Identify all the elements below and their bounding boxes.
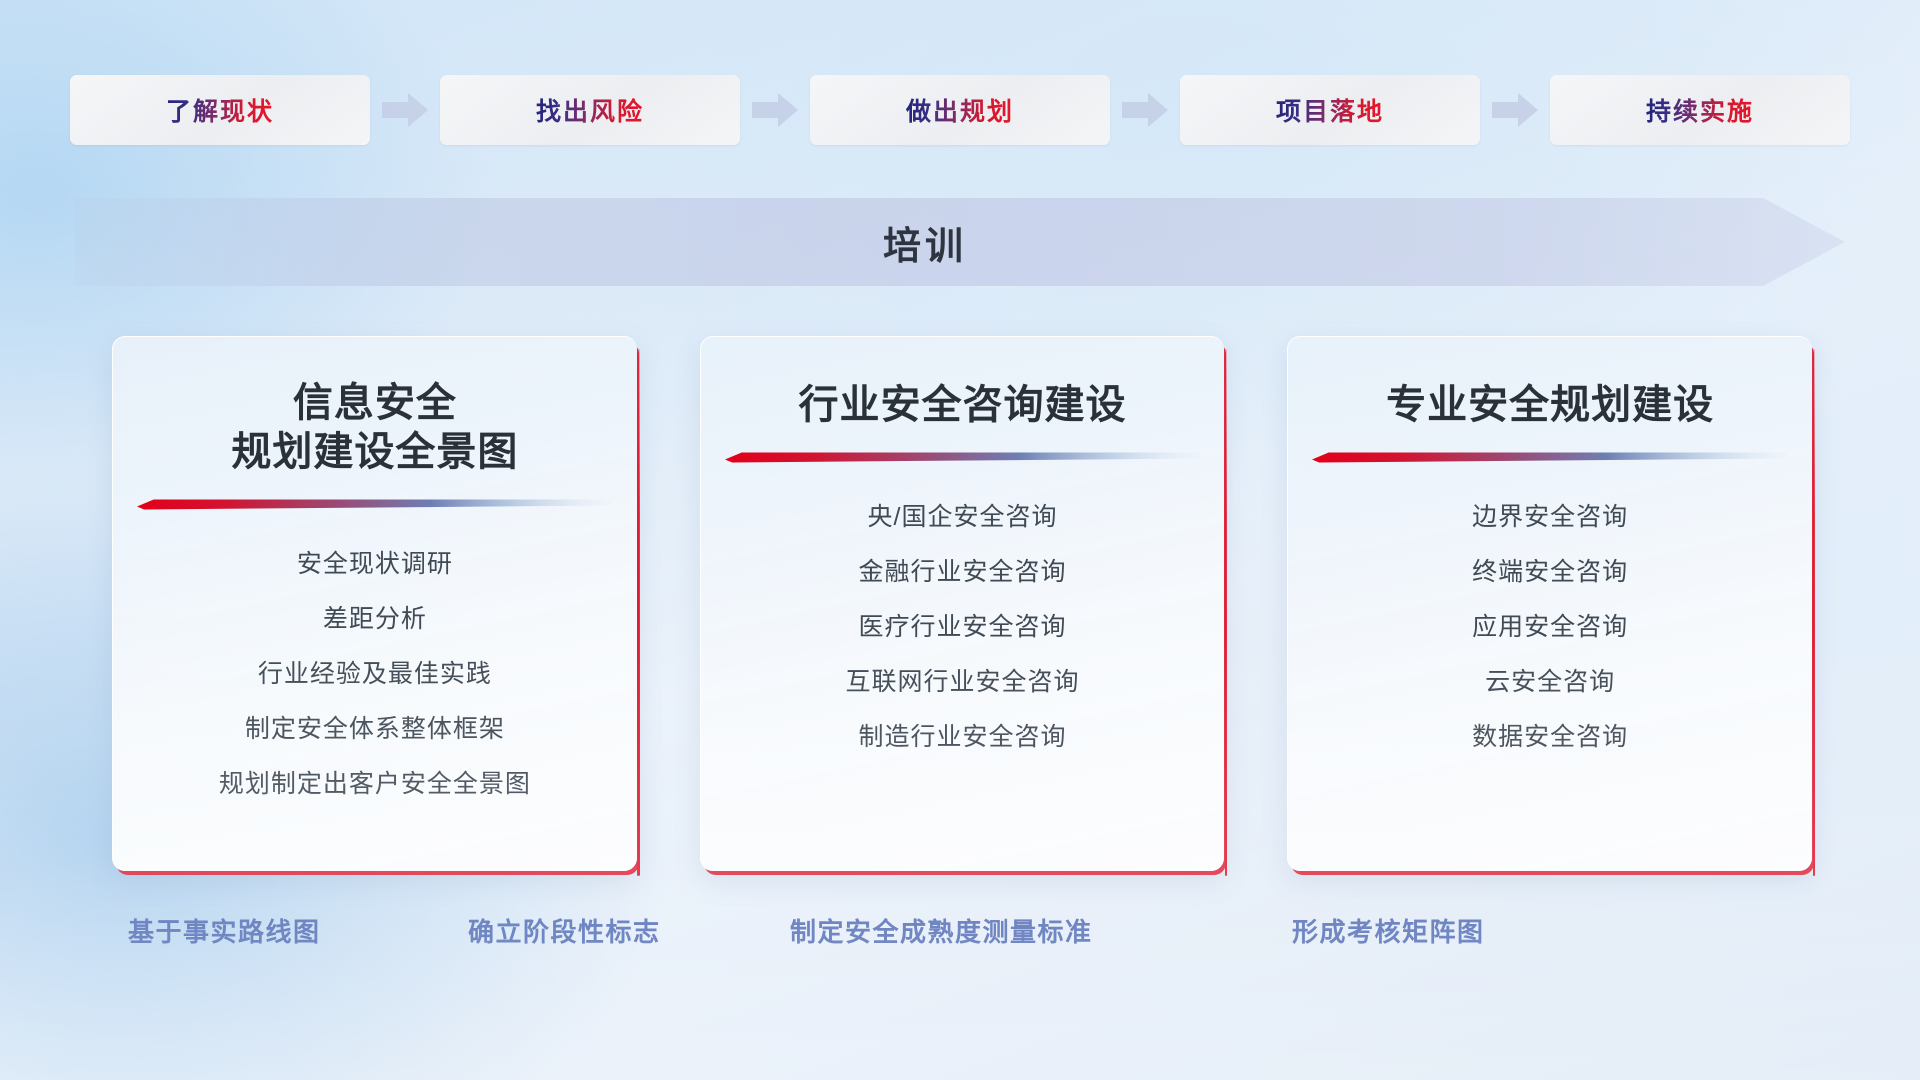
slide-canvas: 了解现状 找出风险 做出规划 项目落地 持续实施 [0, 0, 1920, 1080]
process-step-surface: 项目落地 [1180, 75, 1480, 145]
card-list-item: 行业经验及最佳实践 [258, 654, 492, 690]
footer-label-4: 形成考核矩阵图 [1292, 912, 1485, 949]
card-list-item: 医疗行业安全咨询 [859, 607, 1067, 643]
card-list-item: 制定安全体系整体框架 [245, 709, 505, 745]
card-title: 信息安全 规划建设全景图 [231, 379, 518, 477]
process-step-2[interactable]: 找出风险 [440, 75, 740, 145]
card-list-item: 央/国企安全咨询 [868, 497, 1058, 533]
process-step-surface: 持续实施 [1550, 75, 1850, 145]
card-item-list: 边界安全咨询终端安全咨询应用安全咨询云安全咨询数据安全咨询 [1472, 497, 1628, 753]
process-step-strip: 了解现状 找出风险 做出规划 项目落地 持续实施 [70, 75, 1850, 145]
card-list-item: 终端安全咨询 [1472, 552, 1628, 588]
process-step-5[interactable]: 持续实施 [1550, 75, 1850, 145]
process-step-label: 了解现状 [166, 92, 274, 128]
card-list-item: 制造行业安全咨询 [859, 717, 1067, 753]
card-list-item: 互联网行业安全咨询 [846, 662, 1080, 698]
card-list-item: 边界安全咨询 [1472, 497, 1628, 533]
gradient-accent-bar-icon [725, 450, 1201, 463]
footer-label-group: 基于事实路线图确立阶段性标志制定安全成熟度测量标准形成考核矩阵图 [0, 912, 1920, 962]
process-step-label: 找出风险 [536, 92, 644, 128]
info-card-1[interactable]: 信息安全 规划建设全景图 安全现状调研差距分析行业经验及最佳实践制定安全体系整体… [112, 336, 637, 871]
chevron-right-arrow-icon [1122, 93, 1168, 127]
chevron-right-arrow-icon [382, 93, 428, 127]
card-list-item: 云安全咨询 [1485, 662, 1615, 698]
process-step-surface: 了解现状 [70, 75, 370, 145]
process-step-label: 做出规划 [906, 92, 1014, 128]
process-step-label: 项目落地 [1276, 92, 1384, 128]
footer-label-2: 确立阶段性标志 [468, 912, 661, 949]
process-step-label: 持续实施 [1646, 92, 1754, 128]
process-step-4[interactable]: 项目落地 [1180, 75, 1480, 145]
card-list-item: 安全现状调研 [297, 544, 453, 580]
info-card-3[interactable]: 专业安全规划建设 边界安全咨询终端安全咨询应用安全咨询云安全咨询数据安全咨询 [1287, 336, 1812, 871]
card-divider [137, 497, 613, 510]
card-item-list: 央/国企安全咨询金融行业安全咨询医疗行业安全咨询互联网行业安全咨询制造行业安全咨… [846, 497, 1080, 753]
chevron-right-arrow-icon [1492, 93, 1538, 127]
card-title: 专业安全规划建设 [1386, 381, 1714, 430]
card-list-item: 规划制定出客户安全全景图 [219, 764, 531, 800]
training-banner: 培训 [75, 198, 1845, 286]
process-connector-arrow-3 [1110, 75, 1180, 145]
process-connector-arrow-2 [740, 75, 810, 145]
banner-title: 培训 [75, 198, 1775, 286]
process-step-surface: 找出风险 [440, 75, 740, 145]
card-list-item: 金融行业安全咨询 [859, 552, 1067, 588]
info-card-2[interactable]: 行业安全咨询建设 央/国企安全咨询金融行业安全咨询医疗行业安全咨询互联网行业安全… [700, 336, 1225, 871]
gradient-accent-bar-icon [1312, 450, 1788, 463]
process-connector-arrow-1 [370, 75, 440, 145]
process-step-3[interactable]: 做出规划 [810, 75, 1110, 145]
card-list-item: 数据安全咨询 [1472, 717, 1628, 753]
gradient-accent-bar-icon [137, 497, 613, 510]
process-step-1[interactable]: 了解现状 [70, 75, 370, 145]
card-list-item: 差距分析 [323, 599, 427, 635]
process-connector-arrow-4 [1480, 75, 1550, 145]
card-title: 行业安全咨询建设 [799, 381, 1127, 430]
footer-label-1: 基于事实路线图 [128, 912, 321, 949]
card-list-item: 应用安全咨询 [1472, 607, 1628, 643]
card-item-list: 安全现状调研差距分析行业经验及最佳实践制定安全体系整体框架规划制定出客户安全全景… [219, 544, 531, 800]
process-step-surface: 做出规划 [810, 75, 1110, 145]
footer-label-3: 制定安全成熟度测量标准 [790, 912, 1093, 949]
card-divider [1312, 450, 1788, 463]
chevron-right-arrow-icon [752, 93, 798, 127]
card-group: 信息安全 规划建设全景图 安全现状调研差距分析行业经验及最佳实践制定安全体系整体… [112, 336, 1812, 871]
card-divider [725, 450, 1201, 463]
